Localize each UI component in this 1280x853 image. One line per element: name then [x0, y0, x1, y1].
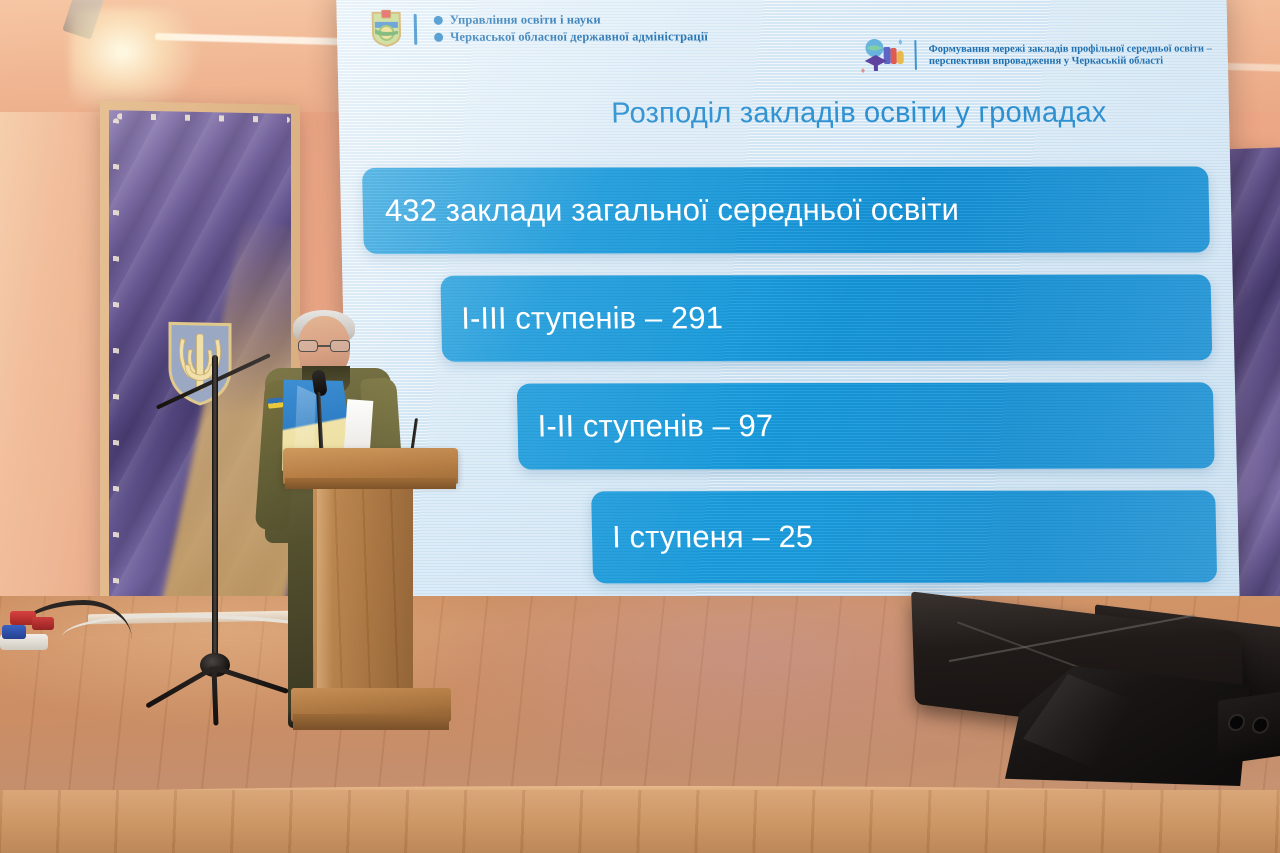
slide-bar-label: I ступеня – 25 [592, 519, 814, 555]
header-project-text-2: перспективи впровадження у Черкаській об… [929, 55, 1212, 66]
glasses-icon [298, 340, 350, 352]
glasses-bridge [318, 345, 330, 347]
stage-speaker-cabinet [1218, 691, 1280, 764]
slide-title: Розподіл закладів освіти у громадах [338, 96, 1229, 131]
microphone-pole [212, 355, 218, 660]
slide-header-left: Управління освіти і науки Черкаської обл… [371, 9, 709, 47]
podium-base-front [293, 714, 449, 730]
slide-bar-level-i-iii: I-III ступенів – 291 [440, 274, 1212, 361]
power-connector-blue [2, 625, 26, 639]
floor-microphone-stand [150, 355, 280, 755]
slide-bar-total: 432 заклади загальної середньої освіти [362, 166, 1210, 253]
header-org-text-2: Черкаської обласної державної адміністра… [450, 29, 708, 44]
stage-front-panel [0, 790, 1280, 853]
header-org-line: Черкаської обласної державної адміністра… [434, 29, 708, 44]
header-divider-right [914, 40, 917, 70]
podium-column-highlight [317, 489, 333, 694]
bullet-icon [434, 15, 443, 24]
header-project-text-1: Формування мережі закладів профільної се… [929, 43, 1212, 54]
bullet-icon [434, 32, 443, 41]
header-project-lines: Формування мережі закладів профільної се… [929, 43, 1213, 66]
header-org-lines: Управління освіти і науки Черкаської обл… [434, 12, 708, 44]
header-divider [414, 14, 418, 45]
slide-header: Управління освіти і науки Черкаської обл… [371, 8, 1215, 75]
podium-top-edge [285, 478, 456, 489]
slide-bar-label: I-II ступенів – 97 [517, 408, 773, 444]
piano-lid-seam [949, 614, 1195, 662]
slide-bar-list: 432 заклади загальної середньої освіти I… [340, 166, 1239, 583]
grand-piano [905, 600, 1280, 770]
slide-bar-label: 432 заклади загальної середньої освіти [363, 192, 960, 229]
slide-bar-level-i-ii: I-II ступенів – 97 [517, 382, 1215, 469]
glasses-lens [298, 340, 318, 352]
slide-bar-label: I-III ступенів – 291 [441, 300, 723, 336]
banner-rivets-top [117, 113, 290, 123]
slide-bar-level-i: I ступеня – 25 [591, 490, 1217, 583]
header-org-text-1: Управління освіти і науки [450, 12, 601, 27]
slide-surface: Управління освіти і науки Черкаської обл… [336, 0, 1240, 626]
microphone-tripod-leg [213, 665, 289, 694]
wooden-podium [283, 448, 458, 730]
presentation-scene: Управління освіти і науки Черкаської обл… [0, 0, 1280, 853]
education-graduation-icon [858, 35, 907, 75]
led-video-wall: Управління освіти і науки Черкаської обл… [336, 0, 1240, 626]
header-org-line: Управління освіти і науки [434, 12, 708, 27]
banner-rivets-left [113, 118, 119, 600]
glasses-lens [330, 340, 350, 352]
speaker-driver-icon [1252, 715, 1269, 734]
speaker-driver-icon [1228, 713, 1245, 732]
cherkasy-oblast-coat-of-arms-icon [371, 10, 403, 47]
slide-header-right: Формування мережі закладів профільної се… [858, 34, 1212, 75]
microphone-tripod-leg [145, 665, 215, 708]
power-connector-red [32, 617, 54, 630]
